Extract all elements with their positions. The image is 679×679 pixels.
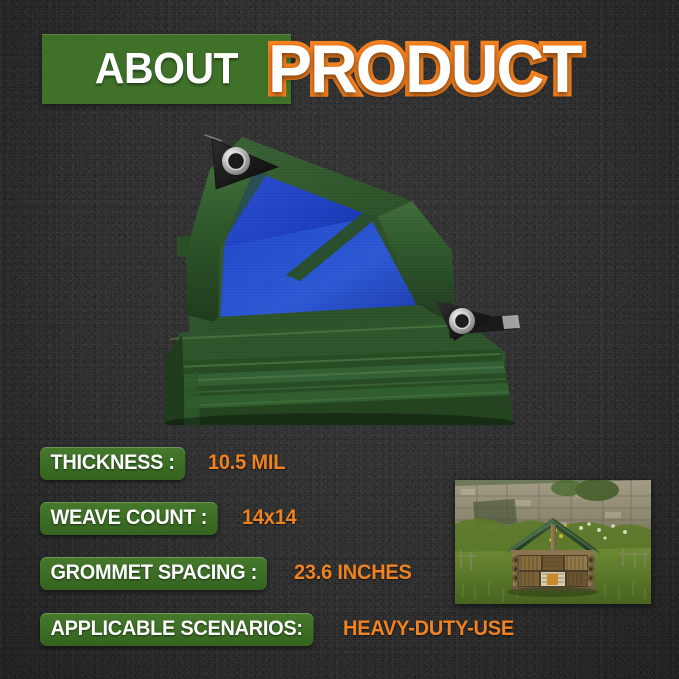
spec-label-grommet-spacing: GROMMET SPACING : — [40, 557, 267, 590]
spec-row-grommet-spacing: GROMMET SPACING : 23.6 INCHES — [40, 556, 418, 590]
spec-row-thickness: THICKNESS : 10.5 MIL — [40, 446, 289, 480]
folded-tarp-photo — [150, 125, 532, 425]
spec-label-weave-count: WEAVE COUNT : — [40, 502, 218, 535]
spec-label-applicable-scenarios: APPLICABLE SCENARIOS: — [40, 613, 313, 646]
spec-row-applicable-scenarios: APPLICABLE SCENARIOS: HEAVY-DUTY-USE — [40, 612, 523, 646]
spec-value-grommet-spacing: 23.6 INCHES — [294, 561, 412, 585]
spec-value-thickness: 10.5 MIL — [208, 451, 285, 475]
garden-shelter-photo — [455, 480, 651, 604]
header-banner: ABOUT PRODUCT — [0, 27, 679, 111]
about-label: ABOUT — [51, 34, 283, 104]
spec-label-thickness: THICKNESS : — [40, 447, 185, 480]
product-label: PRODUCT — [268, 27, 581, 111]
product-infographic: ABOUT PRODUCT — [0, 0, 679, 679]
spec-row-weave-count: WEAVE COUNT : 14x14 — [40, 501, 299, 535]
spec-value-applicable-scenarios: HEAVY-DUTY-USE — [343, 617, 514, 641]
spec-value-weave-count: 14x14 — [242, 506, 297, 530]
